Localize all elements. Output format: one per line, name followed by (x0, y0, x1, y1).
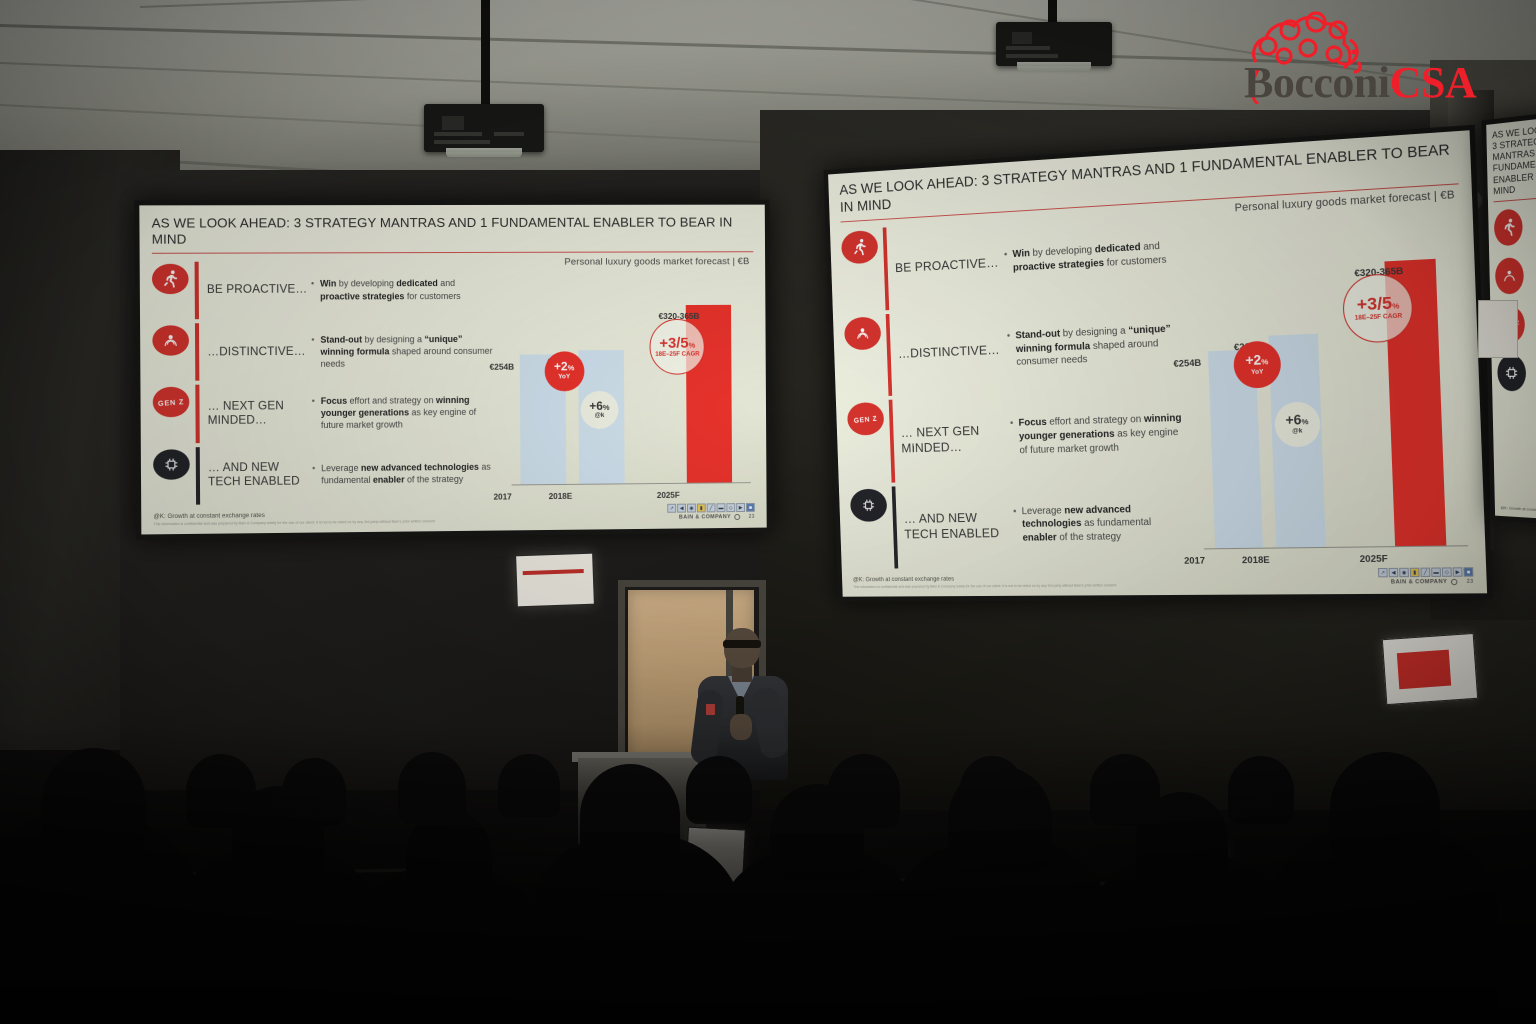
cagr-2017-2018-badge: +6% @k (1274, 401, 1321, 447)
projection-screen-right: AS WE LOOK AHEAD: 3 STRATEGY MANTRAS AND… (823, 125, 1492, 602)
toolbar-pen-icon[interactable]: ╱ (707, 503, 716, 512)
fingerprint-person-icon (844, 316, 882, 350)
accent-tick (195, 262, 199, 320)
yoy-value: +2 (554, 360, 568, 374)
x-tick-2018e: 2018E (1225, 554, 1287, 566)
cagr2-value: +3/5 (659, 334, 688, 351)
mantra-label: …DISTINCTIVE… (898, 342, 1009, 362)
toolbar-highlight-icon[interactable]: ▮ (697, 503, 706, 512)
x-tick-2018e: 2018E (531, 492, 591, 502)
toolbar-prev-icon[interactable]: ◀ (677, 504, 686, 513)
gen-z-icon-label: GEN Z (158, 397, 185, 408)
mantra-bullet: Win by developing dedicated and proactiv… (1010, 239, 1178, 275)
bar-value-2017: €254B (472, 361, 532, 371)
slide-title: AS WE LOOK AHEAD: 3 STRATEGY MANTRAS AND… (152, 215, 754, 253)
mantra-bullet: Win by developing dedicated and proactiv… (318, 277, 494, 302)
gen-z-icon-label: GEN Z (853, 413, 877, 424)
mantra-label: … NEXT GEN MINDED… (208, 399, 313, 428)
chart-plot-area: €254B €260B €320-365B 2017 2018E 2025F +… (510, 279, 751, 504)
gen-z-icon: GEN Z (847, 402, 885, 436)
fingerprint-person-icon (152, 325, 189, 355)
toolbar-highlight-icon[interactable]: ▮ (1410, 568, 1420, 577)
ceiling-projector-left (424, 104, 544, 152)
running-person-icon (1494, 208, 1523, 246)
yoy-value: +2 (1245, 353, 1261, 369)
yoy-sub: YoY (1251, 369, 1263, 376)
bain-logo-text: BAIN & COMPANY (1391, 579, 1448, 586)
yoy-sub: YoY (558, 374, 570, 381)
speaker-lanyard-badge (706, 704, 715, 715)
slide-fine-print: This information is confidential and was… (153, 519, 434, 526)
toolbar-menu-icon[interactable]: ■ (746, 503, 755, 512)
cagr2-sub: 18E–25F CAGR (655, 352, 699, 359)
mantra-row: GEN Z … NEXT GEN MINDED… Focus effort an… (153, 381, 495, 445)
mantra-row: BE PROACTIVE… Win by developing dedicate… (152, 259, 494, 322)
cagr1-value: +6 (1285, 412, 1301, 428)
cagr1-pct: % (1301, 417, 1308, 426)
accent-tick (883, 227, 890, 309)
mantra-bullet: Focus effort and strategy on winning you… (1016, 412, 1185, 457)
foreground-shadow (0, 724, 1536, 1024)
slide-content-left: AS WE LOOK AHEAD: 3 STRATEGY MANTRAS AND… (139, 205, 766, 535)
circuit-chip-icon (850, 488, 888, 521)
mantra-label: … AND NEW TECH ENABLED (208, 461, 313, 490)
mantra-bullet: Leverage new advanced technologies as fu… (319, 461, 495, 487)
slide-footnote: @K: Growth at constant exchange rates (853, 574, 1116, 583)
accent-tick (196, 447, 200, 505)
mantra-row: GEN Z … NEXT GEN MINDED… Focus effort an… (847, 388, 1186, 485)
chart-plot-area: €254B €260B €320-365B 2017 2018E 2025F +… (1193, 214, 1469, 568)
mantra-label: … NEXT GEN MINDED… (901, 422, 1012, 456)
yoy-pct: % (568, 364, 575, 373)
cagr-2017-2018-badge: +6% @k (581, 391, 619, 429)
accent-tick (886, 314, 893, 396)
cagr1-sub: @k (1292, 428, 1302, 435)
running-person-icon (841, 230, 878, 265)
x-tick-2025f: 2025F (1342, 552, 1406, 564)
title-divider (152, 251, 753, 254)
mantra-bullet: Focus effort and strategy on winning you… (319, 394, 495, 432)
toolbar-next-icon[interactable]: ▶ (1453, 567, 1463, 576)
accent-tick (889, 400, 896, 482)
projector-mount-left (481, 0, 490, 108)
cagr2-pct: % (1392, 301, 1400, 311)
slide-content-right: AS WE LOOK AHEAD: 3 STRATEGY MANTRAS AND… (828, 130, 1487, 596)
bain-logo-text: BAIN & COMPANY (679, 514, 731, 521)
mantra-bullet: Leverage new advanced technologies as fu… (1020, 502, 1189, 545)
toolbar-prev-icon[interactable]: ◀ (1389, 568, 1399, 577)
mantra-row: …DISTINCTIVE… Stand-out by designing a “… (844, 298, 1183, 400)
toolbar-menu-icon[interactable]: ■ (1463, 567, 1473, 577)
mantra-list: BE PROACTIVE… Win by developing dedicate… (152, 257, 496, 507)
fingerprint-person-icon (1495, 257, 1524, 295)
toolbar-eraser-icon[interactable]: ▬ (1431, 567, 1441, 576)
market-forecast-chart: Personal luxury goods market forecast | … (1182, 189, 1473, 568)
mantra-label: BE PROACTIVE… (207, 283, 312, 298)
wall-poster (1478, 300, 1518, 358)
toolbar-cursor-icon[interactable]: ↗ (667, 504, 676, 513)
slide-title: AS WE LOOK AHEAD: 3 STRATEGY MANTRAS AND… (1492, 120, 1536, 202)
projection-screen-left: AS WE LOOK AHEAD: 3 STRATEGY MANTRAS AND… (134, 200, 771, 540)
toolbar-globe-icon[interactable]: ◉ (1399, 568, 1409, 577)
accent-tick (195, 385, 199, 443)
bain-logo-dot (734, 514, 740, 520)
toolbar-pen-icon[interactable]: ╱ (1420, 568, 1430, 577)
mantra-row: … AND NEW TECH ENABLED Leverage new adva… (850, 478, 1190, 571)
bain-logo: BAIN & COMPANY 23 (1391, 579, 1474, 586)
toolbar-cursor-icon[interactable]: ↗ (1378, 568, 1388, 577)
bain-logo: BAIN & COMPANY 23 (679, 514, 755, 521)
x-tick-2025f: 2025F (639, 491, 698, 501)
x-tick-2017: 2017 (1164, 554, 1225, 566)
running-person-icon (152, 264, 189, 294)
lecture-hall-photo: AS WE LOOK AHEAD: 3 STRATEGY MANTRAS AND… (0, 0, 1536, 1024)
toolbar-shape-icon[interactable]: ◇ (726, 503, 735, 512)
cagr2-sub: 18E–25F CAGR (1355, 314, 1403, 323)
cagr1-pct: % (603, 403, 610, 412)
mantra-row: …DISTINCTIVE… Stand-out by designing a “… (152, 320, 494, 383)
yoy-growth-badge: +2% YoY (544, 351, 584, 391)
gen-z-icon: GEN Z (153, 387, 190, 418)
cagr2-value: +3/5 (1356, 293, 1392, 314)
bar-value-2017: €254B (1157, 356, 1217, 369)
mantra-label: …DISTINCTIVE… (207, 345, 312, 360)
slide-fine-print: This information is confidential and was… (853, 583, 1116, 589)
mantra-label: … AND NEW TECH ENABLED (904, 510, 1016, 543)
slide-page-number: 23 (749, 514, 755, 520)
presentation-toolbar[interactable]: ↗ ◀ ◉ ▮ ╱ ▬ ◇ ▶ ■ (1378, 567, 1474, 577)
toolbar-shape-icon[interactable]: ◇ (1442, 567, 1452, 576)
presentation-toolbar[interactable]: ↗ ◀ ◉ ▮ ╱ ▬ ◇ ▶ ■ (667, 503, 755, 513)
toolbar-globe-icon[interactable]: ◉ (687, 504, 696, 513)
x-tick-2017: 2017 (473, 492, 533, 502)
circuit-chip-icon (1497, 355, 1526, 392)
toolbar-next-icon[interactable]: ▶ (736, 503, 745, 512)
mantra-label: BE PROACTIVE… (895, 254, 1006, 275)
cagr2-pct: % (689, 340, 696, 349)
cagr1-sub: @k (595, 413, 605, 420)
mantra-bullet: Stand-out by designing a “unique” winnin… (318, 332, 494, 369)
circuit-chip-icon (153, 449, 190, 480)
mantra-row: … AND NEW TECH ENABLED Leverage new adva… (153, 442, 495, 507)
chart-title: Personal luxury goods market forecast | … (500, 256, 753, 268)
mantra-list: BE PROACTIVE… Win by developing dedicate… (841, 206, 1190, 571)
toolbar-eraser-icon[interactable]: ▬ (716, 503, 725, 512)
cagr1-value: +6 (589, 399, 603, 413)
accent-tick (892, 486, 899, 568)
mantra-row: BE PROACTIVE… Win by developing dedicate… (841, 208, 1180, 314)
slide-page-number: 23 (1467, 579, 1474, 585)
ceiling-projector-right (996, 22, 1112, 66)
speaker-glasses (723, 640, 761, 648)
market-forecast-chart: Personal luxury goods market forecast | … (500, 256, 755, 503)
bain-logo-dot (1450, 579, 1457, 585)
slide-footnote: @K: Growth at constant exchange rates (1500, 505, 1536, 516)
yoy-pct: % (1261, 357, 1268, 366)
accent-tick (195, 323, 199, 381)
